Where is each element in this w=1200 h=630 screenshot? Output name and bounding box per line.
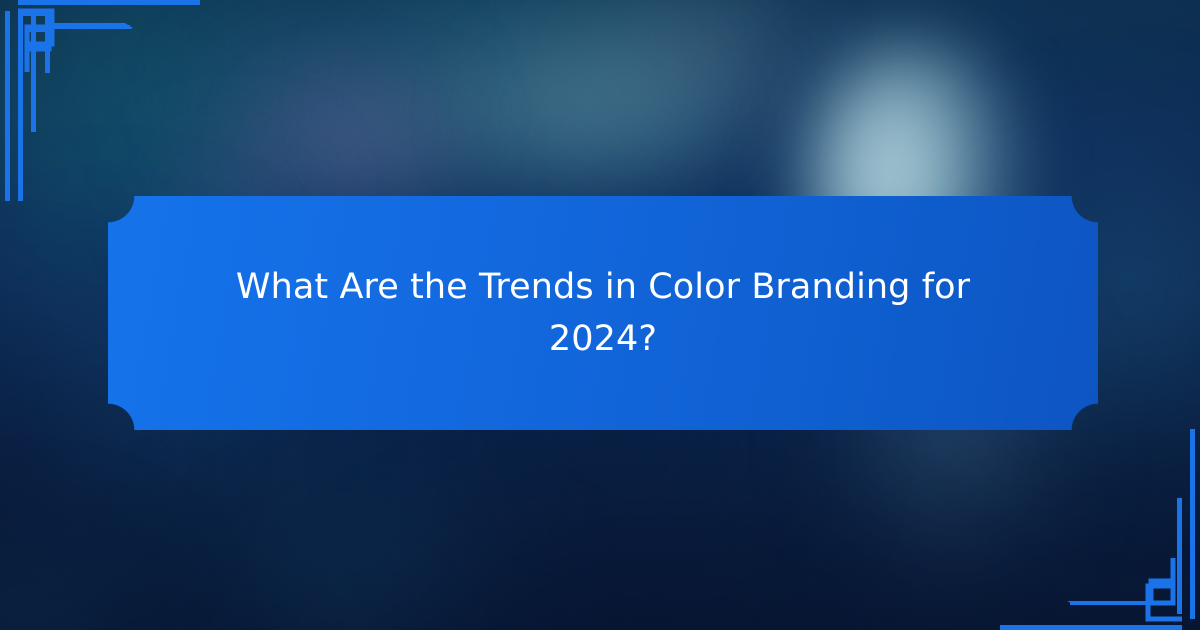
page-title: What Are the Trends in Color Branding fo… xyxy=(233,261,973,366)
corner-ornament-top-left xyxy=(0,0,200,215)
corner-lines-icon xyxy=(0,0,200,215)
title-card: What Are the Trends in Color Branding fo… xyxy=(108,196,1098,430)
title-card-content: What Are the Trends in Color Branding fo… xyxy=(108,196,1098,430)
hero-canvas: What Are the Trends in Color Branding fo… xyxy=(0,0,1200,630)
corner-lines-icon xyxy=(1000,415,1200,630)
corner-ornament-bottom-right xyxy=(1000,415,1200,630)
